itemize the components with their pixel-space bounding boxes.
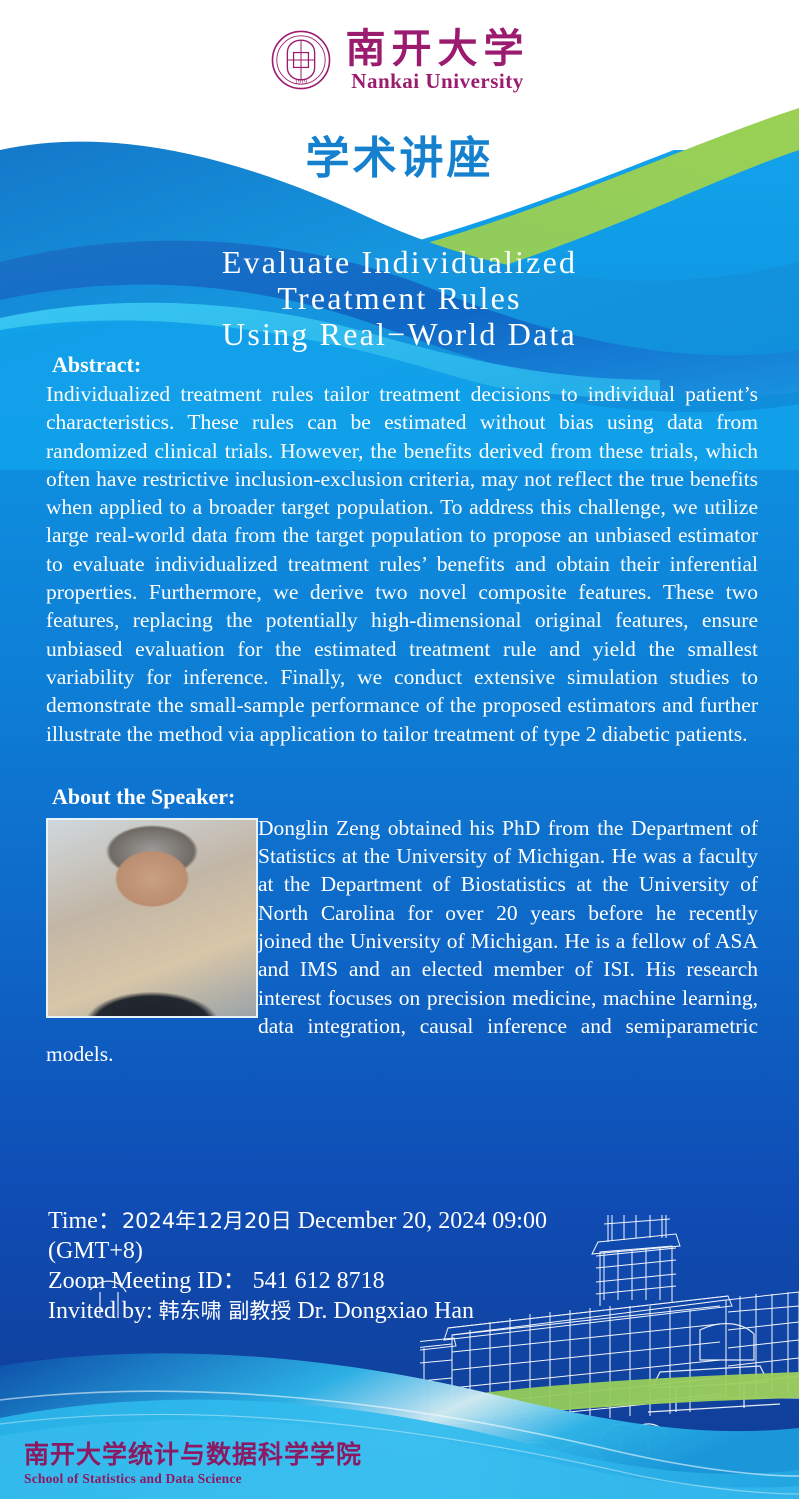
meeting-time-row: Time：2024年12月20日 December 20, 2024 09:00 — [48, 1206, 728, 1236]
abstract-heading: Abstract: — [52, 352, 758, 378]
seminar-poster: 1919 南开大学 Nankai University 学术讲座 Evaluat… — [0, 0, 799, 1499]
meeting-time-label: Time： — [48, 1208, 122, 1234]
lecture-type-badge: 学术讲座 — [0, 137, 799, 181]
speaker-section: About the Speaker: Donglin Zeng obtained… — [46, 784, 758, 1069]
zoom-meeting-label: Zoom Meeting ID： — [48, 1268, 247, 1294]
zoom-meeting-row: Zoom Meeting ID： 541 612 8718 — [48, 1266, 728, 1296]
speaker-portrait-photo — [46, 818, 258, 1018]
svg-text:1919: 1919 — [294, 79, 306, 86]
school-name-en: School of Statistics and Data Science — [24, 1472, 362, 1486]
speaker-flow: Donglin Zeng obtained his PhD from the D… — [46, 814, 758, 1069]
meeting-details: Time：2024年12月20日 December 20, 2024 09:00… — [48, 1206, 728, 1326]
talk-title: Evaluate Individualized Treatment Rules … — [0, 244, 799, 352]
abstract-body: Individualized treatment rules tailor tr… — [46, 380, 758, 748]
school-footer: 南开大学统计与数据科学学院 School of Statistics and D… — [24, 1442, 362, 1486]
poster-content: Abstract: Individualized treatment rules… — [46, 352, 758, 1069]
zoom-meeting-id: 541 612 8718 — [247, 1268, 385, 1294]
nankai-seal-icon: 1919 — [270, 29, 332, 91]
speaker-heading: About the Speaker: — [52, 784, 758, 810]
invited-by-row: Invited by: 韩东啸 副教授 Dr. Dongxiao Han — [48, 1296, 728, 1326]
invited-by-name-cn: 韩东啸 副教授 — [159, 1299, 292, 1323]
university-name-en: Nankai University — [351, 71, 523, 92]
university-logo: 1919 南开大学 Nankai University — [0, 0, 799, 120]
meeting-timezone: (GMT+8) — [48, 1236, 728, 1266]
invited-by-label: Invited by: — [48, 1298, 159, 1324]
meeting-time-value-cn: 2024年12月20日 — [122, 1209, 292, 1233]
school-name-cn: 南开大学统计与数据科学学院 — [24, 1442, 362, 1467]
talk-title-line-1: Evaluate Individualized — [0, 244, 799, 280]
university-name-cn: 南开大学 — [346, 29, 530, 69]
invited-by-name-en: Dr. Dongxiao Han — [291, 1298, 474, 1324]
talk-title-line-2: Treatment Rules — [0, 280, 799, 316]
talk-title-line-3: Using Real−World Data — [0, 316, 799, 352]
meeting-time-value-en: December 20, 2024 09:00 — [292, 1208, 547, 1234]
